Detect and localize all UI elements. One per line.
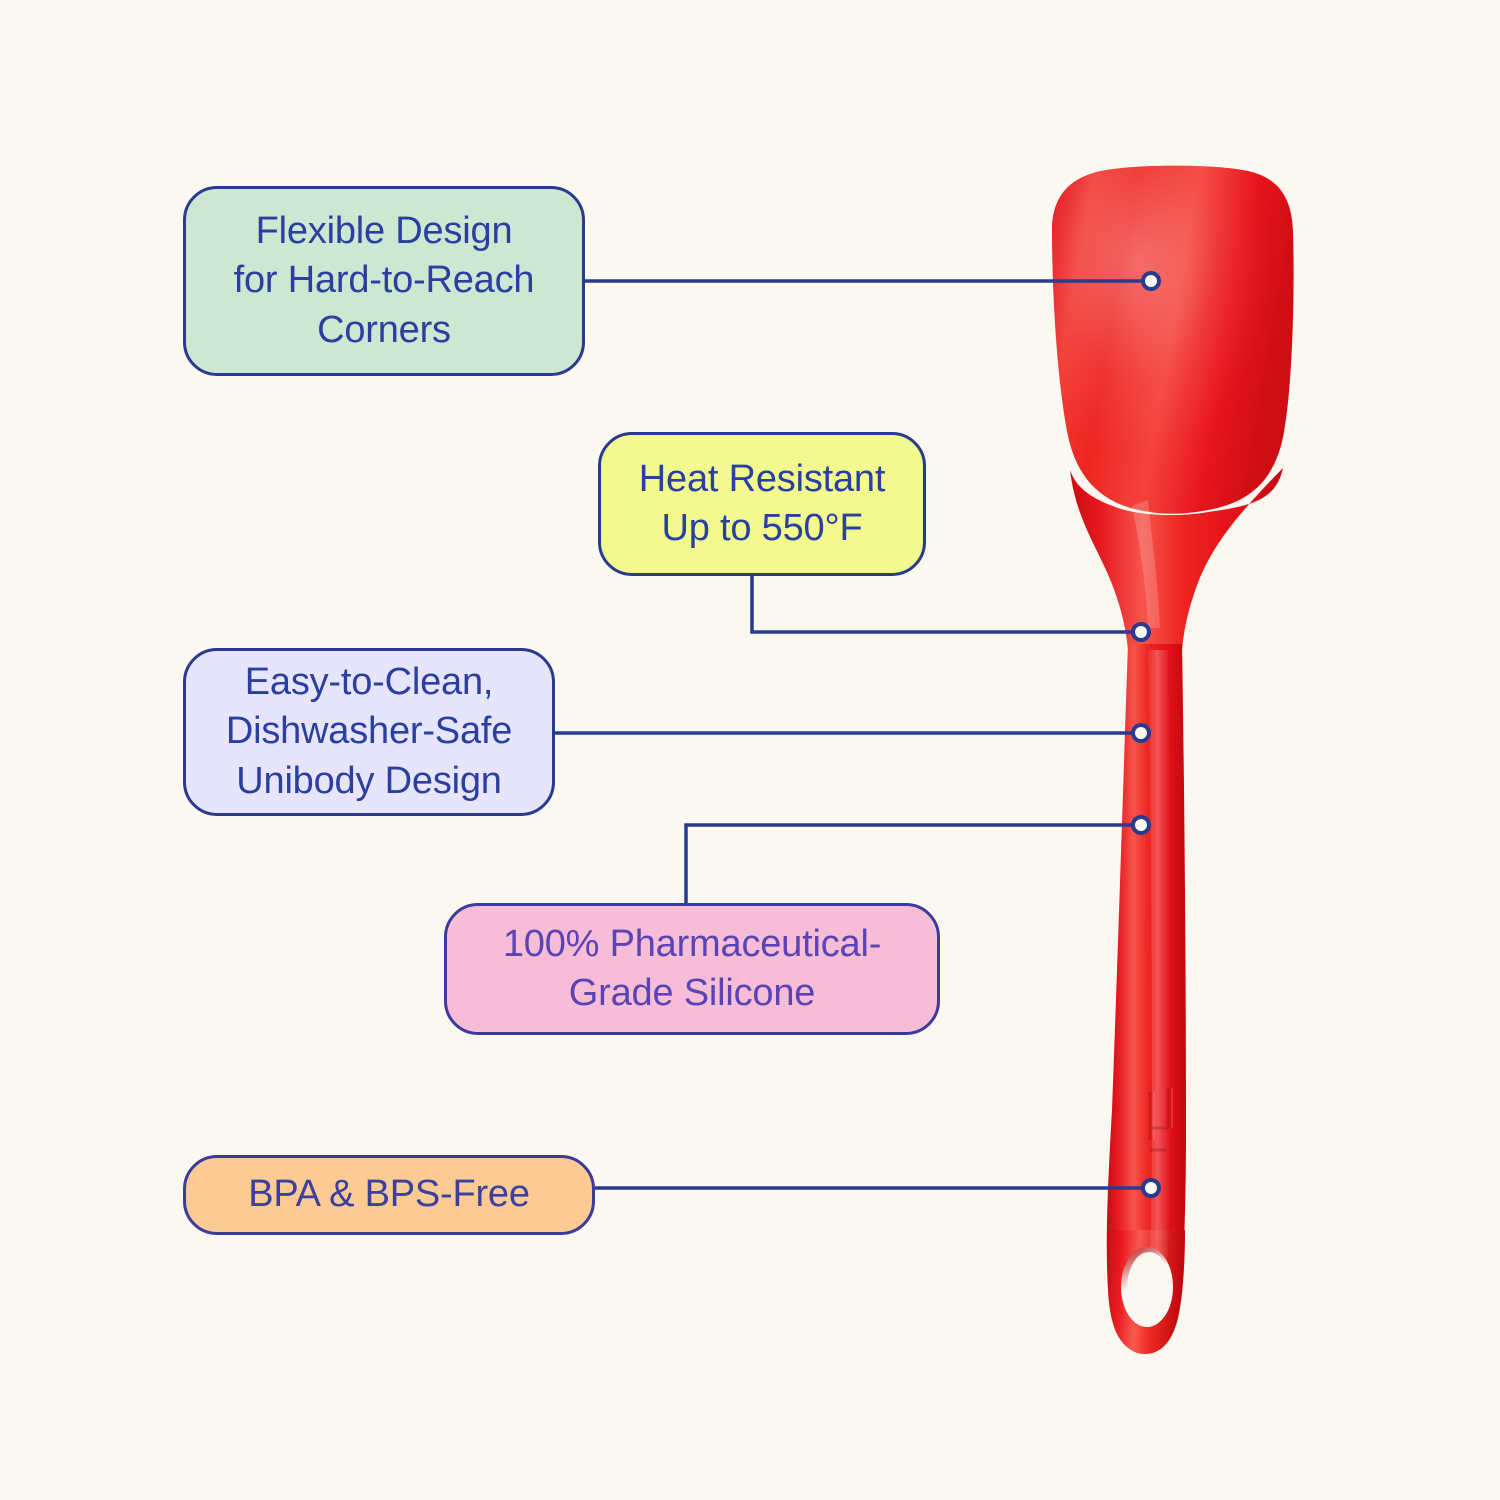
endpoint-ring-neck (1133, 624, 1149, 640)
infographic-canvas: Flexible Design for Hard-to-Reach Corner… (0, 0, 1500, 1500)
endpoint-ring-handle-lower (1143, 1180, 1159, 1196)
endpoint-ring-handle-mid (1133, 817, 1149, 833)
connector-lines (0, 0, 1500, 1500)
endpoint-ring-head (1143, 273, 1159, 289)
connector-silicone (686, 825, 1133, 903)
endpoint-ring-handle-upper (1133, 725, 1149, 741)
connector-heat-resistant (752, 576, 1133, 632)
